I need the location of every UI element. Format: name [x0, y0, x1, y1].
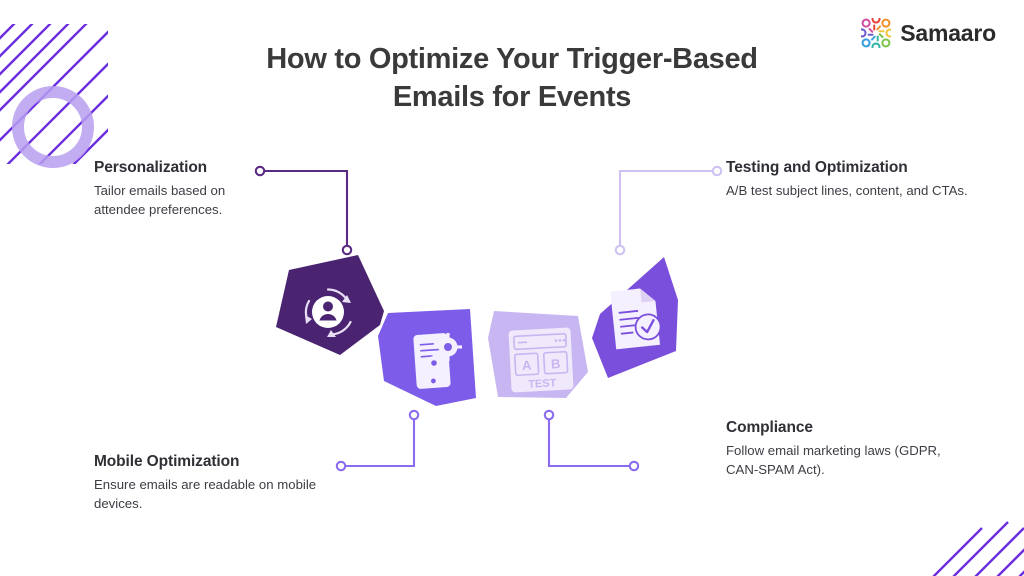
callout-mobile-optimization: Mobile Optimization Ensure emails are re…: [94, 452, 334, 513]
callout-testing-title: Testing and Optimization: [726, 158, 971, 178]
callout-compliance-title: Compliance: [726, 418, 976, 438]
callout-compliance-description: Follow email marketing laws (GDPR, CAN-S…: [726, 442, 976, 479]
connector-mobile: [337, 411, 418, 470]
callout-personalization-description: Tailor emails based on attendee preferen…: [94, 182, 269, 219]
connector-personalization: [256, 167, 351, 254]
connector-testing: [616, 167, 721, 254]
callout-mobile-title: Mobile Optimization: [94, 452, 334, 472]
callout-mobile-description: Ensure emails are readable on mobile dev…: [94, 476, 334, 513]
callout-testing-and-optimization: Testing and Optimization A/B test subjec…: [726, 158, 971, 201]
connector-compliance: [545, 411, 638, 470]
callout-personalization: Personalization Tailor emails based on a…: [94, 158, 269, 219]
callout-testing-description: A/B test subject lines, content, and CTA…: [726, 182, 971, 201]
callout-personalization-title: Personalization: [94, 158, 269, 178]
infographic-canvas: Samaaro How to Optimize Your Trigger-Bas…: [0, 0, 1024, 576]
callout-compliance: Compliance Follow email marketing laws (…: [726, 418, 976, 479]
